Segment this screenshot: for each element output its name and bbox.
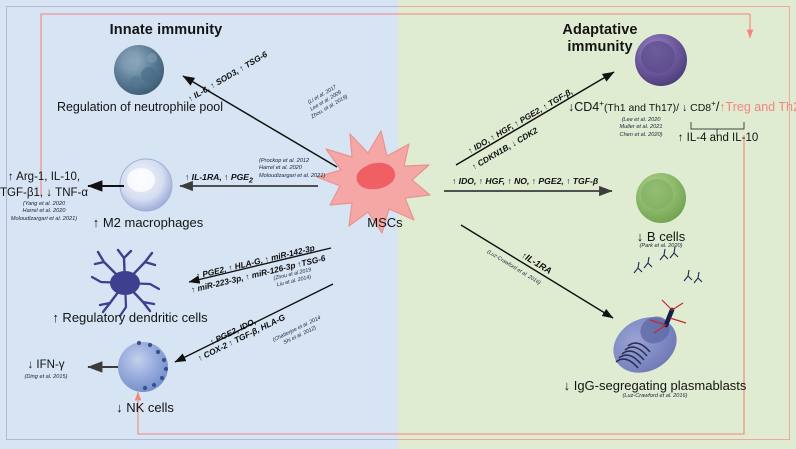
arrow-label-bcell: ↑ IDO, ↑ HGF, ↑ NO, ↑ PGE2, ↑ TGF-β — [452, 176, 598, 186]
msc-label: MSCs — [345, 215, 425, 230]
macrophage-output-line1: ↑ Arg-1, IL-10, — [0, 170, 88, 186]
macrophage-output-line2: TGF-β1, ↓ TNF-α — [0, 186, 88, 202]
macrophage-cell-icon — [120, 159, 172, 211]
neutrophil-label: Regulation of neutrophile pool — [30, 100, 250, 114]
nk-output-label: ↓ IFN-γ — [5, 358, 87, 374]
dendritic-cell-icon — [92, 250, 159, 316]
neutrophil-cell-icon — [114, 45, 164, 95]
innate-immunity-title: Innate immunity — [66, 22, 266, 38]
tcell-result-line: ↓CD4+(Th1 and Th17)/ ↓ CD8+/↑Treg and Th… — [568, 99, 796, 114]
citation-macrophage-output: (Yang et al. 2020 Harrel et al. 2020 Mol… — [0, 201, 88, 223]
macrophage-label: ↑ M2 macrophages — [83, 215, 213, 230]
b-cell-icon — [636, 173, 686, 223]
nk-label: ↓ NK cells — [95, 400, 195, 415]
plasmablast-label: ↓ IgG-segregating plasmablasts — [540, 378, 770, 393]
citation-bcell: (Park et al. 2020) — [610, 243, 712, 250]
adaptive-immunity-title-line1: Adaptative — [505, 22, 695, 38]
citation-plasmablast: (Luz-Crawford et al. 2016) — [540, 393, 770, 400]
arrow-msc-to-plasmablast — [461, 225, 613, 318]
bcell-label: ↓ B cells — [610, 229, 712, 244]
dendritic-label: ↑ Regulatory dendritic cells — [30, 310, 230, 325]
nk-cell-icon — [118, 341, 168, 392]
treg-bracket-label: ↑ IL-4 and IL-10 — [668, 131, 768, 147]
adaptive-immunity-title-line2: immunity — [505, 39, 695, 55]
plasmablast-cell-icon — [604, 247, 702, 383]
figure-canvas: Innate immunity Adaptative immunity MSCs… — [0, 0, 796, 449]
arrow-label-macrophage: ↑ IL-1RA, ↑ PGE2 — [185, 172, 253, 185]
citation-macrophage: (Prockop et al. 2012 Harrel et al. 2020 … — [259, 158, 355, 180]
citation-nk-output: (Ding et al. 2015) — [5, 374, 87, 381]
